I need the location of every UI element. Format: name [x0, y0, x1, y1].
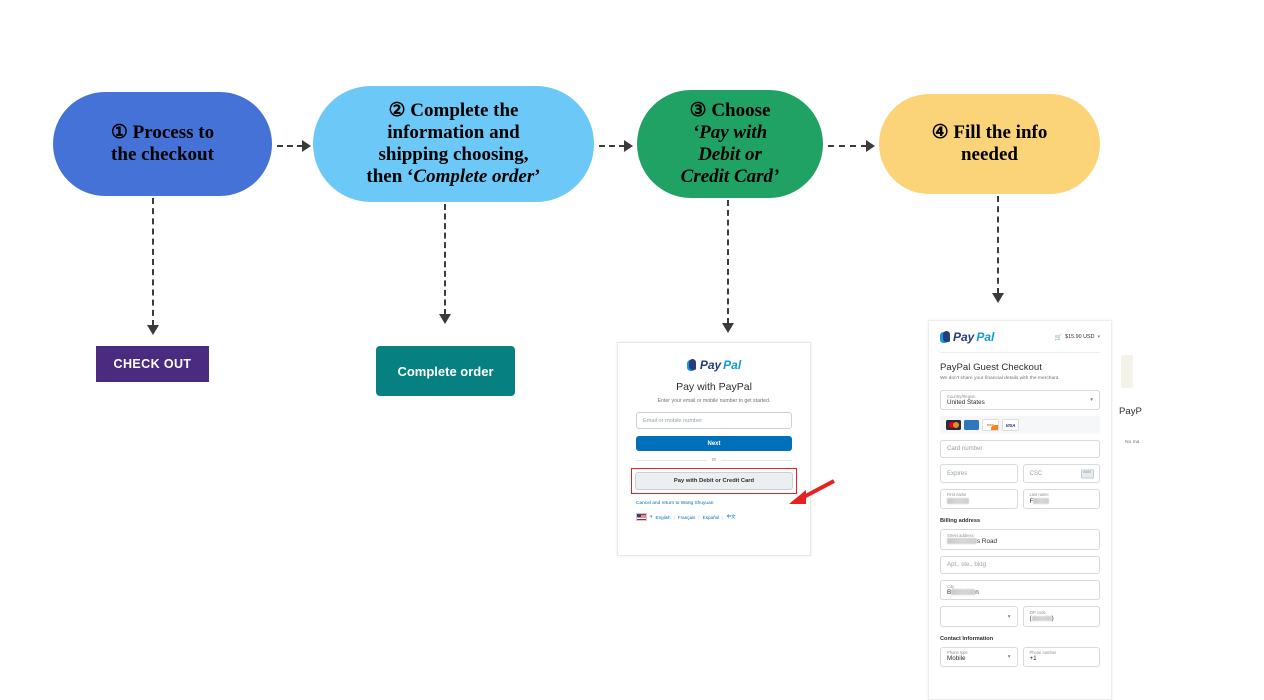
paypal-logo: PayPal	[940, 330, 994, 344]
card-number-input[interactable]: Card number	[940, 440, 1100, 459]
redacted-value	[951, 589, 975, 595]
step-3-line-1: ③ Choose	[681, 100, 780, 122]
separator: |	[674, 515, 675, 520]
card-security-code-icon	[1081, 469, 1094, 478]
language-spanish[interactable]: Español	[703, 515, 720, 520]
state-zip-row: ▾ ZIP code ()	[940, 606, 1100, 632]
dashed-line	[599, 145, 625, 147]
chevron-down-icon[interactable]: ▾	[1090, 397, 1093, 403]
apt-suite-input[interactable]: Apt., ste., bldg	[940, 556, 1100, 575]
or-label: or	[712, 457, 716, 463]
redacted-value	[947, 538, 977, 544]
chevron-down-icon[interactable]: ▾	[1008, 614, 1011, 620]
phone-number-value: +1	[1030, 655, 1094, 663]
check-out-button[interactable]: CHECK OUT	[96, 346, 209, 382]
street-address-input[interactable]: Street address s Road	[940, 529, 1100, 549]
paypal-guest-checkout-screenshot: PayPal 🛒 $15.90 USD ▾ PayPal Guest Check…	[928, 320, 1112, 700]
cart-amount: $15.90 USD	[1065, 334, 1094, 340]
mastercard-icon	[946, 420, 961, 430]
zip-code-value: ()	[1030, 615, 1094, 623]
step-1-line-2: the checkout	[111, 144, 214, 166]
next-button[interactable]: Next	[636, 436, 792, 451]
email-or-mobile-input[interactable]: Email or mobile number	[636, 412, 792, 429]
step-2-line-4-prefix: then ‘	[366, 166, 413, 187]
paypal-login-subtitle: Enter your email or mobile number to get…	[636, 398, 792, 404]
paypal-login-screenshot: PayPal Pay with PayPal Enter your email …	[617, 342, 811, 556]
paypal-login-title: Pay with PayPal	[636, 381, 792, 393]
flow-step-3-choose-pay-with-card: ③ Choose ‘Pay with Debit or Credit Card’	[637, 90, 823, 198]
guest-checkout-heading: PayPal Guest Checkout	[940, 362, 1100, 373]
apt-suite-placeholder: Apt., ste., bldg	[947, 559, 1093, 571]
separator: |	[698, 515, 699, 520]
guest-checkout-note: We don't share your financial details wi…	[940, 376, 1100, 381]
redacted-value	[947, 498, 969, 504]
connector-step1-to-checkout-button	[152, 198, 154, 335]
flow-step-1-process-to-checkout: ① Process to the checkout	[53, 92, 272, 196]
paypal-mark-icon	[940, 331, 951, 344]
phone-type-select[interactable]: Phone type Mobile ▾	[940, 647, 1018, 667]
arrowhead-right-icon	[866, 140, 875, 152]
complete-order-button[interactable]: Complete order	[376, 346, 515, 396]
red-annotation-arrow-icon	[786, 478, 836, 510]
connector-step3-to-paypal-screenshot	[727, 200, 729, 333]
contact-information-heading: Contact Information	[940, 636, 1100, 642]
billing-address-heading: Billing address	[940, 518, 1100, 524]
separator: |	[722, 515, 723, 520]
discover-icon: DISC	[982, 419, 999, 431]
street-address-value: s Road	[947, 538, 1093, 546]
step-2-line-2: information and	[366, 122, 540, 144]
arrowhead-right-icon	[624, 140, 633, 152]
redacted-value	[1032, 616, 1052, 622]
partial-note: No ma	[1125, 440, 1139, 445]
us-flag-icon	[636, 513, 647, 521]
arrowhead-right-icon	[302, 140, 311, 152]
divider-rule-left	[636, 460, 707, 461]
city-value: Bn	[947, 589, 1093, 597]
step-3-line-3: Debit or	[681, 144, 780, 166]
visa-icon: VISA	[1002, 419, 1019, 431]
dashed-line	[152, 198, 154, 326]
street-address-suffix: s Road	[977, 538, 997, 545]
name-row: First name Last name F	[940, 489, 1100, 515]
paypal-logo: PayPal	[636, 358, 792, 372]
dashed-line	[444, 204, 446, 315]
city-suffix: n	[975, 589, 979, 596]
connector-step4-to-guest-checkout-screenshot	[997, 196, 999, 303]
connector-step2-to-complete-order-button	[444, 204, 446, 324]
step-1-line-1: ① Process to	[111, 122, 214, 144]
paypal-mark-icon	[687, 359, 698, 372]
last-name-input[interactable]: Last name F	[1023, 489, 1101, 509]
partial-heading: PayP	[1119, 406, 1142, 417]
city-input[interactable]: City Bn	[940, 580, 1100, 600]
amex-icon	[964, 420, 979, 430]
country-region-value: United States	[947, 399, 1093, 407]
last-name-value: F	[1030, 498, 1094, 506]
step-3-line-2: ‘Pay with	[681, 122, 780, 144]
arrowhead-down-icon	[992, 293, 1004, 303]
step-2-line-4: then ‘Complete order’	[366, 166, 540, 188]
card-number-placeholder: Card number	[947, 443, 1093, 455]
divider-rule-right	[721, 460, 792, 461]
language-selector-row[interactable]: ▾ English | Français | Español | 中文	[636, 513, 792, 521]
expires-placeholder: Expires	[947, 468, 1011, 480]
dashed-line	[277, 145, 303, 147]
first-name-value	[947, 498, 1011, 506]
arrowhead-down-icon	[722, 323, 734, 333]
guest-checkout-partial-panel: PayP No ma	[1113, 320, 1264, 698]
cart-icon: 🛒	[1055, 334, 1062, 341]
cancel-and-return-link[interactable]: Cancel and return to Wang Shuyuan	[636, 501, 792, 506]
connector-step2-to-step3	[599, 145, 633, 147]
dashed-line	[727, 200, 729, 324]
expires-input[interactable]: Expires	[940, 464, 1018, 483]
arrowhead-down-icon	[147, 325, 159, 335]
partial-decoration	[1121, 355, 1133, 388]
step-4-line-2: needed	[932, 144, 1048, 166]
step-2-line-3: shipping choosing,	[366, 144, 540, 166]
flow-step-4-fill-info-needed: ④ Fill the info needed	[879, 94, 1100, 194]
dashed-line	[828, 145, 867, 147]
highlight-box: Pay with Debit or Credit Card	[631, 468, 797, 494]
dashed-line	[997, 196, 999, 294]
chevron-down-icon[interactable]: ▾	[1008, 654, 1011, 660]
cart-total[interactable]: 🛒 $15.90 USD ▾	[1055, 334, 1100, 341]
connector-step3-to-step4	[828, 145, 875, 147]
first-name-input[interactable]: First name	[940, 489, 1018, 509]
state-placeholder	[947, 610, 1011, 622]
connector-step1-to-step2	[277, 145, 311, 147]
language-english[interactable]: English	[656, 515, 671, 520]
paypal-logo-pal: Pal	[976, 330, 994, 344]
paypal-logo-pay: Pay	[700, 358, 721, 372]
step-2-line-4-suffix: ’	[534, 166, 540, 187]
redacted-value	[1033, 498, 1049, 504]
language-chinese[interactable]: 中文	[726, 514, 735, 520]
guest-checkout-header: PayPal 🛒 $15.90 USD ▾	[940, 330, 1100, 353]
flowchart-canvas: ① Process to the checkout ② Complete the…	[0, 0, 1264, 698]
pay-with-debit-or-credit-card-button[interactable]: Pay with Debit or Credit Card	[635, 472, 793, 490]
zip-suffix: )	[1052, 615, 1054, 622]
csc-input[interactable]: CSC	[1023, 464, 1101, 483]
zip-code-input[interactable]: ZIP code ()	[1023, 606, 1101, 626]
paypal-logo-pay: Pay	[953, 330, 974, 344]
paypal-logo-pal: Pal	[723, 358, 741, 372]
phone-number-input[interactable]: Phone number +1	[1023, 647, 1101, 667]
language-french[interactable]: Français	[678, 515, 696, 520]
expiry-csc-row: Expires CSC	[940, 464, 1100, 489]
accepted-card-brands: DISC VISA	[940, 416, 1100, 434]
arrowhead-down-icon	[439, 314, 451, 324]
or-divider: or	[636, 457, 792, 463]
phone-row: Phone type Mobile ▾ Phone number +1	[940, 647, 1100, 673]
step-2-line-4-emphasis: Complete order	[413, 166, 534, 187]
step-2-line-1: ② Complete the	[366, 100, 540, 122]
step-3-line-4: Credit Card’	[681, 166, 780, 188]
phone-type-value: Mobile	[947, 655, 1011, 663]
chevron-down-icon[interactable]: ▾	[1097, 334, 1100, 340]
step-4-line-1: ④ Fill the info	[932, 122, 1048, 144]
state-select[interactable]: ▾	[940, 606, 1018, 626]
chevron-down-icon[interactable]: ▾	[650, 514, 653, 520]
flow-step-2-complete-information: ② Complete the information and shipping …	[313, 86, 594, 202]
country-region-select[interactable]: Country/Region United States ▾	[940, 390, 1100, 410]
